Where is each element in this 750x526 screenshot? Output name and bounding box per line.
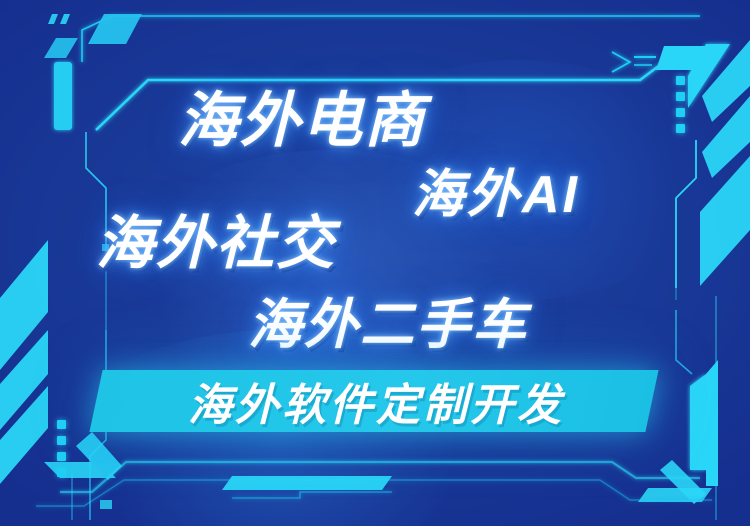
keyword-used-car: 海外二手车 bbox=[248, 280, 528, 359]
keyword-ecommerce: 海外电商 bbox=[178, 72, 426, 159]
keyword-ai: 海外AI bbox=[412, 152, 580, 227]
keyword-stack: 海外电商 海外AI 海外社交 海外二手车 bbox=[0, 0, 750, 526]
poster-canvas: 海外电商 海外AI 海外社交 海外二手车 海外软件定制开发 bbox=[0, 0, 750, 526]
keyword-social: 海外社交 bbox=[96, 196, 336, 280]
cta-banner-label: 海外软件定制开发 bbox=[116, 372, 636, 430]
